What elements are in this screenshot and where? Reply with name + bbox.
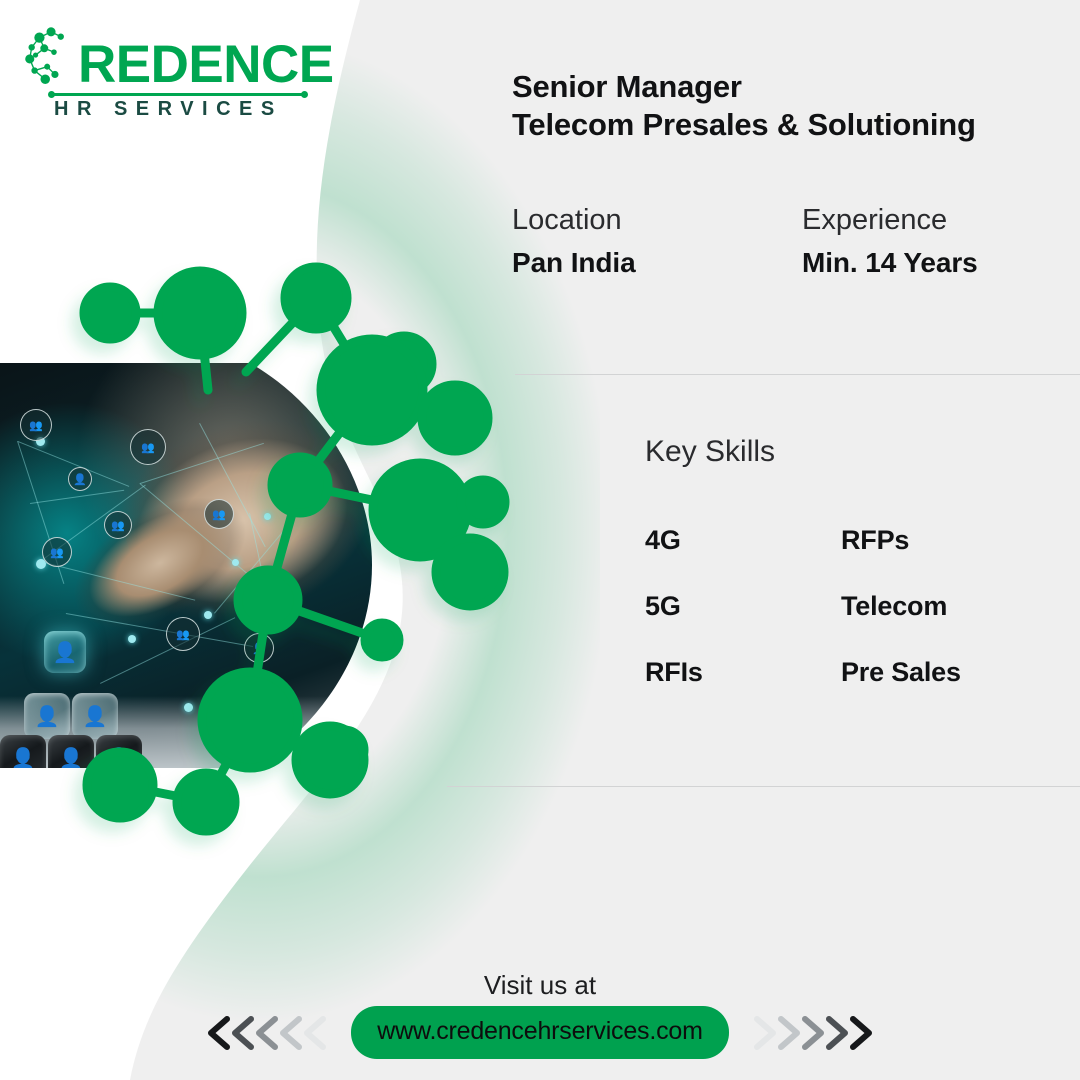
divider-top: [515, 374, 1080, 375]
cube-icon: 👤: [72, 693, 118, 739]
divider-bottom: [447, 786, 1080, 787]
people-node-icon: 👥: [130, 429, 166, 465]
cube-icon: 👤: [24, 693, 70, 739]
skills-column-1: 4G 5G RFIs: [645, 525, 841, 723]
location-block: Location Pan India: [512, 202, 802, 279]
key-skills-list: 4G 5G RFIs RFPs Telecom Pre Sales: [645, 525, 1037, 723]
people-node-icon: 👥: [204, 499, 234, 529]
skill-item: 4G: [645, 525, 841, 591]
person-node-icon: 👤: [68, 467, 92, 491]
skill-item: Pre Sales: [841, 657, 1037, 723]
people-node-icon: 👥: [104, 511, 132, 539]
job-poster: 👥 👥 👤 👥 👥 👥 👥 👤 👤 👤 👤 👤 👤 👤: [0, 0, 1080, 1080]
brand-logo[interactable]: REDENCE HR SERVICES: [22, 26, 334, 121]
chevron-left-icon: [205, 1009, 333, 1057]
cube-icon: 👤: [0, 735, 46, 768]
people-node-icon: 👥: [42, 537, 72, 567]
skills-column-2: RFPs Telecom Pre Sales: [841, 525, 1037, 723]
logo-wordmark: REDENCE: [78, 41, 334, 90]
website-url[interactable]: www.credencehrservices.com: [351, 1006, 728, 1059]
person-node-icon: 👤: [244, 633, 274, 663]
people-node-icon: 👥: [166, 617, 200, 651]
cube-icon: 👤: [44, 631, 86, 673]
key-skills-heading: Key Skills: [645, 435, 775, 469]
molecule-network-icon: [22, 26, 84, 88]
logo-divider-rule: [52, 93, 304, 96]
skill-item: RFPs: [841, 525, 1037, 591]
experience-value: Min. 14 Years: [802, 247, 1080, 279]
location-value: Pan India: [512, 247, 802, 279]
experience-label: Experience: [802, 202, 1080, 238]
job-title-line2: Telecom Presales & Solutioning: [512, 106, 976, 144]
skill-item: Telecom: [841, 591, 1037, 657]
hr-network-photo: 👥 👥 👤 👥 👥 👥 👥 👤 👤 👤 👤 👤 👤 👤: [0, 363, 372, 768]
website-bar: www.credencehrservices.com: [0, 1006, 1080, 1059]
people-node-icon: 👥: [20, 409, 52, 441]
logo-subtitle: HR SERVICES: [54, 98, 334, 121]
cube-icon: 👤: [48, 735, 94, 768]
experience-block: Experience Min. 14 Years: [802, 202, 1080, 279]
page-title: Senior Manager Telecom Presales & Soluti…: [512, 68, 976, 144]
chevron-right-icon: [747, 1009, 875, 1057]
job-meta: Location Pan India Experience Min. 14 Ye…: [512, 202, 1080, 279]
visit-label: Visit us at: [0, 970, 1080, 1001]
cube-icon: 👤: [96, 735, 142, 768]
job-title-line1: Senior Manager: [512, 68, 976, 106]
skill-item: 5G: [645, 591, 841, 657]
location-label: Location: [512, 202, 802, 238]
skill-item: RFIs: [645, 657, 841, 723]
